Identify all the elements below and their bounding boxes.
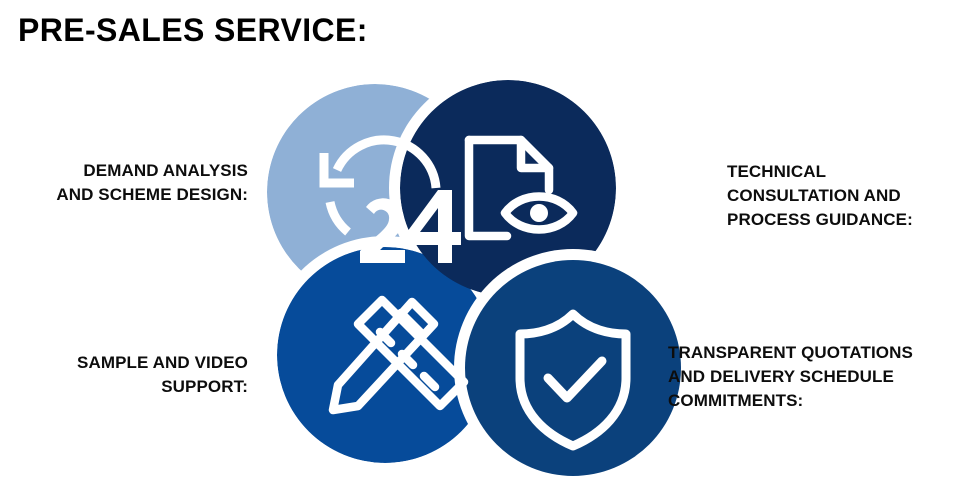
page-title: PRE-SALES SERVICE: <box>18 13 368 48</box>
label-transparent-quotations: TRANSPARENT QUOTATIONS AND DELIVERY SCHE… <box>668 341 960 413</box>
label-demand-analysis: DEMAND ANALYSIS AND SCHEME DESIGN: <box>0 159 248 207</box>
infographic-canvas: PRE-SALES SERVICE: <box>0 0 960 498</box>
venn-circle-cluster <box>262 78 702 490</box>
label-technical-consultation: TECHNICAL CONSULTATION AND PROCESS GUIDA… <box>727 160 959 232</box>
label-sample-video-support: SAMPLE AND VIDEO SUPPORT: <box>0 351 248 399</box>
